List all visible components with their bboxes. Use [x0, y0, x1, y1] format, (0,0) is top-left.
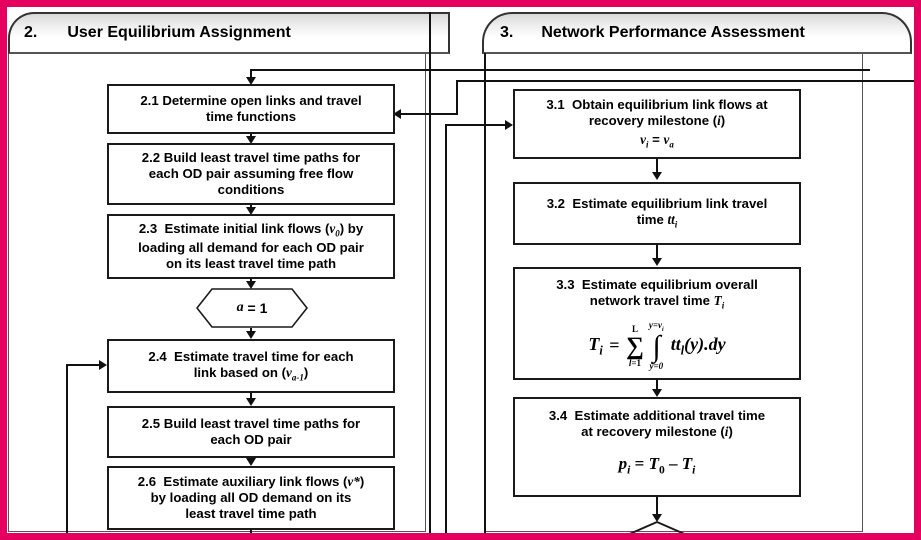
box-3-4-line-2: at recovery milestone (i) — [520, 424, 794, 440]
process-box-2-3[interactable]: 2.3 Estimate initial link flows (v0) by … — [107, 214, 395, 279]
process-box-2-1[interactable]: 2.1 Determine open links and travel time… — [107, 84, 395, 134]
box-3-1-equation: vi = va — [520, 132, 794, 151]
connector-gap-vertical-d — [429, 70, 431, 540]
box-3-3-equation: Ti = L ∑ l=1 y=vi ∫ y=0 ttl(y).dy — [588, 321, 725, 372]
connector-into-2-1-right-horizontal — [395, 113, 458, 115]
connector-gap-vertical-a — [429, 12, 431, 70]
box-2-6-line-3: least travel time path — [114, 506, 388, 522]
connector-feedback-horizontal-to-2-4 — [66, 364, 101, 366]
box-3-4-line-1: 3.4 Estimate additional travel time — [520, 408, 794, 424]
box-3-1-line-1: 3.1 Obtain equilibrium link flows at — [520, 97, 794, 113]
box-2-3-line-1: 2.3 Estimate initial link flows (v0) by — [114, 221, 388, 240]
connector-gap-vertical-b — [445, 124, 447, 540]
connector-gap-vertical-c — [484, 53, 486, 540]
panel-number-3: 3. — [500, 24, 513, 42]
arrowhead-3-3-to-3-4 — [652, 389, 662, 397]
box-3-2-line-2: time tti — [520, 212, 794, 231]
process-box-2-6[interactable]: 2.6 Estimate auxiliary link flows (v*) b… — [107, 466, 395, 530]
panel-title-2: User Equilibrium Assignment — [67, 24, 290, 42]
process-box-2-5[interactable]: 2.5 Build least travel time paths for ea… — [107, 406, 395, 458]
connector-feedback-vertical-to-2-4 — [66, 364, 68, 540]
process-box-3-1[interactable]: 3.1 Obtain equilibrium link flows at rec… — [513, 89, 801, 159]
box-2-5-line-2: each OD pair — [114, 432, 388, 448]
box-3-3-line-1: 3.3 Estimate equilibrium overall — [520, 277, 794, 293]
arrowhead-3-1-to-3-2 — [652, 172, 662, 180]
connector-into-2-1-top-run — [456, 80, 921, 82]
arrowhead-feedback-into-2-4 — [99, 360, 107, 370]
connector-return-top-horizontal — [250, 69, 870, 71]
box-3-4-equation: pi = T0 – Ti — [520, 454, 794, 477]
box-2-3-line-3: on its least travel time path — [114, 256, 388, 272]
box-3-2-line-1: 3.2 Estimate equilibrium link travel — [520, 196, 794, 212]
process-box-3-2[interactable]: 3.2 Estimate equilibrium link travel tim… — [513, 182, 801, 245]
decision-diamond-partial[interactable] — [617, 521, 697, 540]
box-2-2-line-2: each OD pair assuming free flow — [114, 166, 388, 182]
connector-2-6-to-next — [250, 530, 252, 540]
panel-header-user-equilibrium-assignment[interactable]: 2. User Equilibrium Assignment — [8, 12, 450, 54]
box-2-4-line-1: 2.4 Estimate travel time for each — [114, 349, 388, 365]
box-3-1-line-2: recovery milestone (i) — [520, 113, 794, 129]
box-2-1-line-2: time functions — [114, 109, 388, 125]
arrowhead-2-4-to-2-5 — [246, 398, 256, 406]
panel-number-2: 2. — [24, 24, 37, 42]
connector-return-top-riser — [868, 69, 870, 71]
arrowhead-hexagon-to-2-4 — [246, 331, 256, 339]
box-2-6-line-2: by loading all OD demand on its — [114, 490, 388, 506]
flowchart-diagram: 2. User Equilibrium Assignment 3. Networ… — [0, 0, 921, 540]
panel-header-network-performance-assessment[interactable]: 3. Network Performance Assessment — [482, 12, 912, 54]
box-2-6-line-1: 2.6 Estimate auxiliary link flows (v*) — [114, 474, 388, 490]
arrowhead-into-3-1 — [505, 120, 513, 130]
hexagon-label: a = 1 — [196, 288, 308, 328]
process-box-2-4[interactable]: 2.4 Estimate travel time for each link b… — [107, 339, 395, 393]
connector-into-3-1-horizontal — [445, 124, 507, 126]
box-2-5-line-1: 2.5 Build least travel time paths for — [114, 416, 388, 432]
box-3-3-line-2: network travel time Ti — [520, 293, 794, 312]
box-2-3-line-2: loading all demand for each OD pair — [114, 240, 388, 256]
process-box-3-4[interactable]: 3.4 Estimate additional travel time at r… — [513, 397, 801, 497]
process-box-3-3[interactable]: 3.3 Estimate equilibrium overall network… — [513, 267, 801, 380]
box-2-4-line-2: link based on (va-1) — [114, 365, 388, 384]
process-box-2-2[interactable]: 2.2 Build least travel time paths for ea… — [107, 143, 395, 205]
arrowhead-3-2-to-3-3 — [652, 258, 662, 266]
panel-title-3: Network Performance Assessment — [541, 24, 805, 42]
box-2-2-line-3: conditions — [114, 182, 388, 198]
decision-hexagon-a-equals-1[interactable]: a = 1 — [196, 288, 308, 328]
connector-into-2-1-riser — [456, 80, 458, 115]
arrowhead-2-5-to-2-6 — [246, 458, 256, 466]
box-2-2-line-1: 2.2 Build least travel time paths for — [114, 150, 388, 166]
box-2-1-line-1: 2.1 Determine open links and travel — [114, 93, 388, 109]
